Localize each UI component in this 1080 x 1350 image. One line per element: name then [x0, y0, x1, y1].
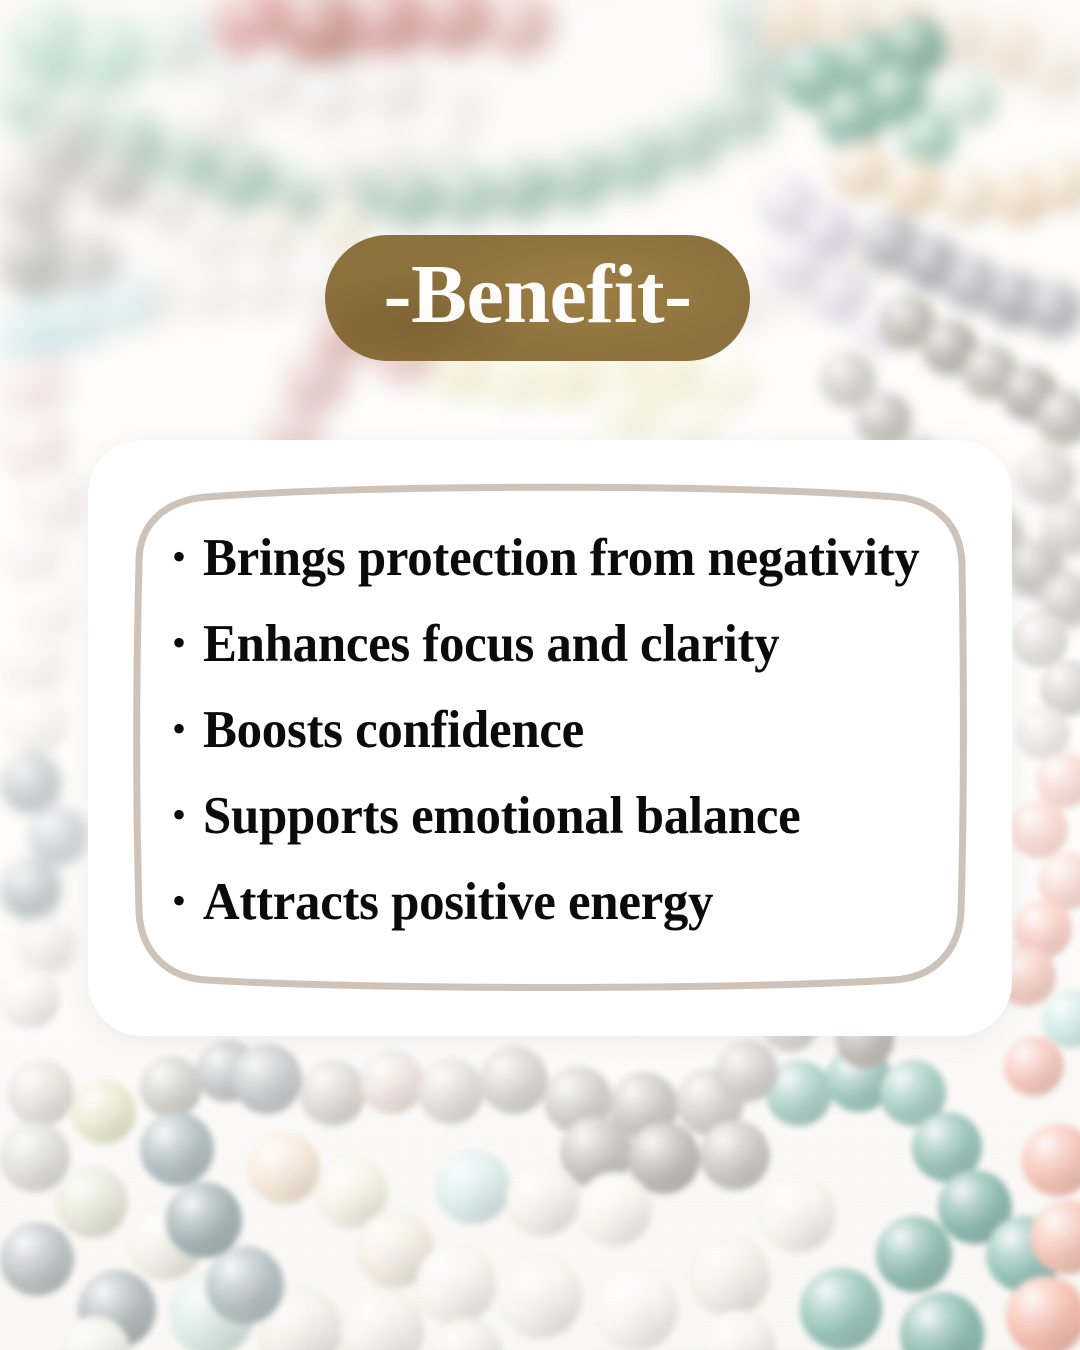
benefit-label: Brings protection from negativity — [203, 522, 941, 595]
gemstone-bead — [716, 1040, 778, 1102]
gemstone-bead — [1004, 1036, 1064, 1096]
gemstone-bead — [418, 1058, 484, 1124]
benefit-label: Attracts positive energy — [203, 866, 941, 939]
gemstone-bead — [596, 1268, 678, 1350]
benefit-list-item: •Attracts positive energy — [172, 866, 972, 939]
gemstone-bead — [72, 1080, 136, 1144]
gemstone-bead — [248, 1132, 320, 1204]
gemstone-bead — [690, 1236, 770, 1316]
gemstone-bead — [800, 1268, 882, 1350]
benefit-list-item: •Boosts confidence — [172, 694, 972, 767]
gemstone-bead — [436, 1150, 510, 1224]
bullet-icon: • — [172, 520, 203, 593]
bullet-icon: • — [172, 864, 203, 937]
gemstone-bead — [760, 1176, 836, 1252]
benefit-list-item: •Supports emotional balance — [172, 780, 972, 853]
gemstone-bead — [430, 1318, 502, 1350]
gemstone-bead — [56, 1166, 128, 1238]
gemstone-bead — [8, 1060, 74, 1126]
gemstone-bead — [1022, 1124, 1080, 1196]
benefit-badge: -Benefit- — [325, 235, 750, 361]
gemstone-bead — [1010, 800, 1068, 858]
bullet-icon: • — [172, 606, 203, 679]
benefit-list: •Brings protection from negativity•Enhan… — [172, 522, 972, 952]
benefit-list-item: •Enhances focus and clarity — [172, 608, 972, 681]
gemstone-bead — [1006, 1276, 1080, 1350]
gemstone-bead — [140, 1056, 202, 1118]
gemstone-bead — [1012, 612, 1068, 668]
gemstone-bead — [578, 1172, 652, 1246]
gemstone-bead — [876, 1216, 952, 1292]
gemstone-bead — [206, 1246, 284, 1324]
gemstone-bead — [360, 1050, 424, 1114]
bullet-icon: • — [172, 778, 203, 851]
gemstone-bead — [700, 1310, 776, 1350]
gemstone-bead — [0, 1122, 70, 1192]
gemstone-bead — [480, 1046, 548, 1114]
gemstone-bead — [300, 1060, 366, 1126]
benefit-label: Enhances focus and clarity — [203, 608, 941, 681]
gemstone-bead — [232, 1044, 302, 1114]
benefit-badge-label: -Benefit- — [383, 253, 691, 337]
gemstone-bead — [506, 1162, 580, 1236]
poster-canvas: -Benefit- •Brings protection from negati… — [0, 0, 1080, 1350]
benefit-label: Boosts confidence — [203, 694, 941, 767]
gemstone-bead — [0, 968, 60, 1028]
benefit-label: Supports emotional balance — [203, 780, 941, 853]
bullet-icon: • — [172, 692, 203, 765]
gemstone-bead — [140, 1112, 214, 1186]
gemstone-bead — [340, 1288, 424, 1350]
gemstone-bead — [0, 1222, 74, 1296]
gemstone-bead — [900, 1292, 984, 1350]
gemstone-bead — [500, 1256, 582, 1338]
gemstone-bead — [700, 1120, 770, 1190]
benefit-card: •Brings protection from negativity•Enhan… — [88, 440, 1012, 1036]
gemstone-bead — [416, 1244, 496, 1324]
gemstone-bead — [166, 1182, 242, 1258]
benefit-list-item: •Brings protection from negativity — [172, 522, 972, 595]
